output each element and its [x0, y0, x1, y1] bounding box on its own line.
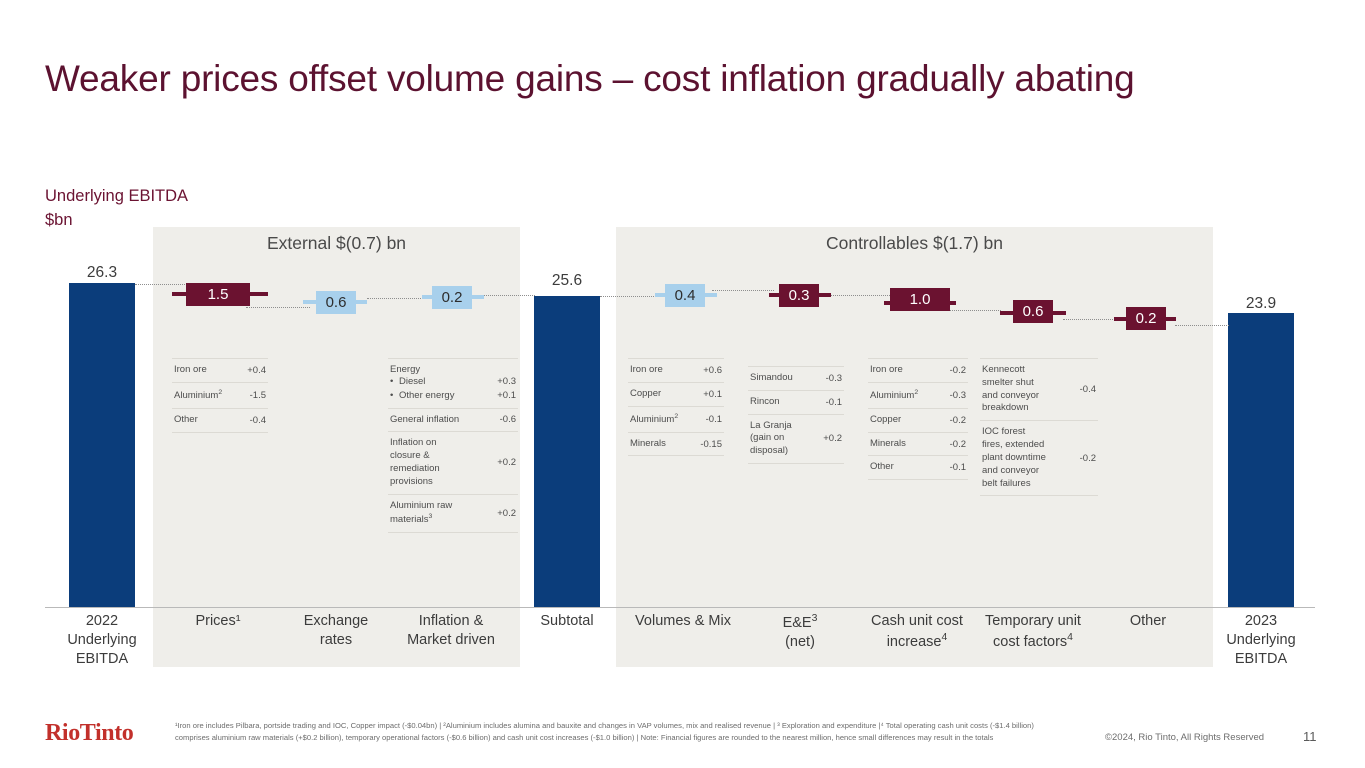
- axis-baseline: [45, 607, 1315, 608]
- connector-ee-cashcost: [830, 295, 890, 296]
- connector-volumes-ee: [712, 290, 774, 291]
- x-label-line: Underlying: [52, 631, 152, 650]
- x-axis-label-other: Other: [1098, 612, 1198, 631]
- bar-delta-fx: 0.6: [316, 291, 356, 314]
- row-label: Iron ore: [630, 364, 697, 377]
- row-label: Aluminium2: [174, 388, 244, 403]
- detail-table-cashcost: Iron ore -0.2 Aluminium2 -0.3 Copper -0.…: [868, 358, 968, 480]
- row-label: IOC forestfires, extendedplant downtimea…: [982, 426, 1074, 490]
- row-value: -0.1: [944, 462, 966, 473]
- table-row: Copper +0.1: [628, 383, 724, 407]
- connector-subtotal-volumes: [600, 296, 660, 297]
- bar-total-subtotal: [534, 296, 600, 607]
- x-axis-label-2023-underlying-ebitda: 2023 Underlying EBITDA: [1211, 612, 1311, 669]
- table-row: Iron ore +0.4: [172, 358, 268, 383]
- row-label: Other: [174, 414, 244, 427]
- x-label-line: Market driven: [388, 631, 514, 650]
- x-label-line: Prices¹: [163, 612, 273, 631]
- connector-tempcost-other: [1063, 319, 1113, 320]
- table-row: Aluminium2 -0.3: [868, 383, 968, 409]
- row-value: +0.2: [491, 508, 516, 519]
- x-axis-label-ee-net: E&E3 (net): [752, 612, 848, 652]
- row-value: +0.1: [697, 389, 722, 400]
- bar-delta-ee: 0.3: [779, 284, 819, 307]
- table-row: Aluminium2 -1.5: [172, 383, 268, 409]
- connector-other-2023: [1175, 325, 1229, 326]
- x-label-line: Exchange: [281, 612, 391, 631]
- detail-table-ee: Simandou -0.3 Rincon -0.1 La Granja(gain…: [748, 366, 844, 464]
- x-label-line: (net): [752, 633, 848, 652]
- bar-total-2022: [69, 283, 135, 607]
- x-label-line: Temporary unit: [968, 612, 1098, 631]
- table-row: Iron ore -0.2: [868, 358, 968, 383]
- table-row: Energy • Diesel +0.3 • Other energy +0.1: [388, 358, 518, 409]
- table-row: Kennecottsmelter shutand conveyorbreakdo…: [980, 358, 1098, 421]
- x-label-line: Inflation &: [388, 612, 514, 631]
- detail-table-volumes: Iron ore +0.6 Copper +0.1 Aluminium2 -0.…: [628, 358, 724, 456]
- row-label: Minerals: [870, 438, 944, 451]
- row-value: -0.4: [1074, 384, 1096, 395]
- slide: Weaker prices offset volume gains – cost…: [0, 0, 1365, 768]
- x-label-line: EBITDA: [52, 650, 152, 669]
- row-value: -0.3: [820, 373, 842, 384]
- row-label: La Granja(gain ondisposal): [750, 420, 817, 458]
- row-label: Inflation onclosure &remediationprovisio…: [390, 437, 491, 488]
- connector-cashcost-tempcost: [947, 310, 1001, 311]
- bar-delta-cashcost: 1.0: [890, 288, 950, 311]
- row-value: -0.4: [244, 415, 266, 426]
- row-label: Copper: [630, 388, 697, 401]
- table-row: La Granja(gain ondisposal) +0.2: [748, 415, 844, 464]
- table-row: Rincon -0.1: [748, 391, 844, 415]
- x-label-line: 2023: [1211, 612, 1311, 631]
- row-value: -0.3: [944, 390, 966, 401]
- x-axis-label-subtotal: Subtotal: [517, 612, 617, 631]
- row-label: Minerals: [630, 438, 694, 451]
- table-row: General inflation -0.6: [388, 409, 518, 433]
- row-label: Rincon: [750, 396, 820, 409]
- row-value: +0.2: [817, 433, 842, 444]
- x-label-line: Cash unit cost: [852, 612, 982, 631]
- x-label-line: Subtotal: [517, 612, 617, 631]
- riotinto-logo: RioTinto: [45, 720, 133, 747]
- table-row: Inflation onclosure &remediationprovisio…: [388, 432, 518, 494]
- row-value: -0.6: [494, 414, 516, 425]
- connector-inflation-subtotal: [483, 295, 535, 296]
- x-axis-label-2022-underlying-ebitda: 2022 Underlying EBITDA: [52, 612, 152, 669]
- table-row: Aluminium2 -0.1: [628, 407, 724, 433]
- list-item: • Other energy +0.1: [390, 389, 516, 403]
- bar-delta-inflation: 0.2: [432, 286, 472, 309]
- bullet-icon: •: [390, 389, 399, 403]
- row-label: Energy: [390, 364, 516, 375]
- x-label-line: E&E3: [752, 612, 848, 633]
- row-value: -0.2: [944, 439, 966, 450]
- table-row: Minerals -0.2: [868, 433, 968, 457]
- row-value: +0.4: [241, 365, 266, 376]
- row-label: Iron ore: [174, 364, 241, 377]
- row-label: Aluminium rawmaterials3: [390, 500, 491, 528]
- row-value: -1.5: [244, 390, 266, 401]
- bar-delta-other: 0.2: [1126, 307, 1166, 330]
- page-number: 11: [1303, 729, 1317, 744]
- row-label: General inflation: [390, 414, 494, 427]
- row-label: Iron ore: [870, 364, 944, 377]
- row-label: Diesel: [399, 375, 497, 389]
- x-label-line: rates: [281, 631, 391, 650]
- table-row: Iron ore +0.6: [628, 358, 724, 383]
- table-row: IOC forestfires, extendedplant downtimea…: [980, 421, 1098, 496]
- row-value: -0.2: [1074, 453, 1096, 464]
- list-item: • Diesel +0.3: [390, 375, 516, 389]
- bar-delta-tempcost: 0.6: [1013, 300, 1053, 323]
- row-value: -0.15: [694, 439, 722, 450]
- bullet-icon: •: [390, 375, 399, 389]
- row-label: Aluminium2: [630, 412, 700, 427]
- bar-label-subtotal: 25.6: [525, 272, 609, 290]
- table-row: Other -0.1: [868, 456, 968, 480]
- bar-total-2023: [1228, 313, 1294, 607]
- row-value: -0.1: [820, 397, 842, 408]
- detail-table-prices: Iron ore +0.4 Aluminium2 -1.5 Other -0.4: [172, 358, 268, 433]
- bar-label-2023: 23.9: [1219, 295, 1303, 313]
- x-label-line: EBITDA: [1211, 650, 1311, 669]
- detail-table-tempcost: Kennecottsmelter shutand conveyorbreakdo…: [980, 358, 1098, 496]
- row-value: +0.1: [497, 389, 516, 403]
- row-label: Aluminium2: [870, 388, 944, 403]
- row-value: +0.2: [491, 457, 516, 468]
- x-axis-label-temporary-unit-cost-factors: Temporary unit cost factors4: [968, 612, 1098, 652]
- row-label: Copper: [870, 414, 944, 427]
- x-label-line: Volumes & Mix: [620, 612, 746, 631]
- bar-delta-prices: 1.5: [186, 283, 250, 306]
- bar-delta-volumes: 0.4: [665, 284, 705, 307]
- row-label: Other: [870, 461, 944, 474]
- x-label-line: cost factors4: [968, 631, 1098, 652]
- table-row: Simandou -0.3: [748, 366, 844, 391]
- row-value: +0.3: [497, 375, 516, 389]
- x-axis-label-exchange-rates: Exchange rates: [281, 612, 391, 650]
- row-label: Other energy: [399, 389, 497, 403]
- bar-label-2022: 26.3: [60, 264, 144, 282]
- table-row: Other -0.4: [172, 409, 268, 433]
- table-row: Minerals -0.15: [628, 433, 724, 457]
- x-axis-label-cash-unit-cost-increase: Cash unit cost increase4: [852, 612, 982, 652]
- row-label: Simandou: [750, 372, 820, 385]
- footnotes: ¹Iron ore includes Pilbara, portside tra…: [175, 720, 1040, 744]
- x-label-line: Other: [1098, 612, 1198, 631]
- row-value: -0.2: [944, 415, 966, 426]
- row-label: Kennecottsmelter shutand conveyorbreakdo…: [982, 364, 1074, 415]
- row-value: -0.2: [944, 365, 966, 376]
- x-axis-label-prices: Prices¹: [163, 612, 273, 631]
- x-label-line: increase4: [852, 631, 982, 652]
- row-value: -0.1: [700, 414, 722, 425]
- x-axis-label-inflation-market-driven: Inflation & Market driven: [388, 612, 514, 650]
- x-label-line: Underlying: [1211, 631, 1311, 650]
- connector-prices-fx: [246, 307, 310, 308]
- row-value: +0.6: [697, 365, 722, 376]
- table-row: Aluminium rawmaterials3 +0.2: [388, 495, 518, 534]
- x-label-line: 2022: [52, 612, 152, 631]
- x-axis-label-volumes-mix: Volumes & Mix: [620, 612, 746, 631]
- copyright-text: ©2024, Rio Tinto, All Rights Reserved: [1105, 732, 1264, 743]
- energy-sublist: • Diesel +0.3 • Other energy +0.1: [390, 375, 516, 403]
- table-row: Copper -0.2: [868, 409, 968, 433]
- detail-table-inflation: Energy • Diesel +0.3 • Other energy +0.1…: [388, 358, 518, 533]
